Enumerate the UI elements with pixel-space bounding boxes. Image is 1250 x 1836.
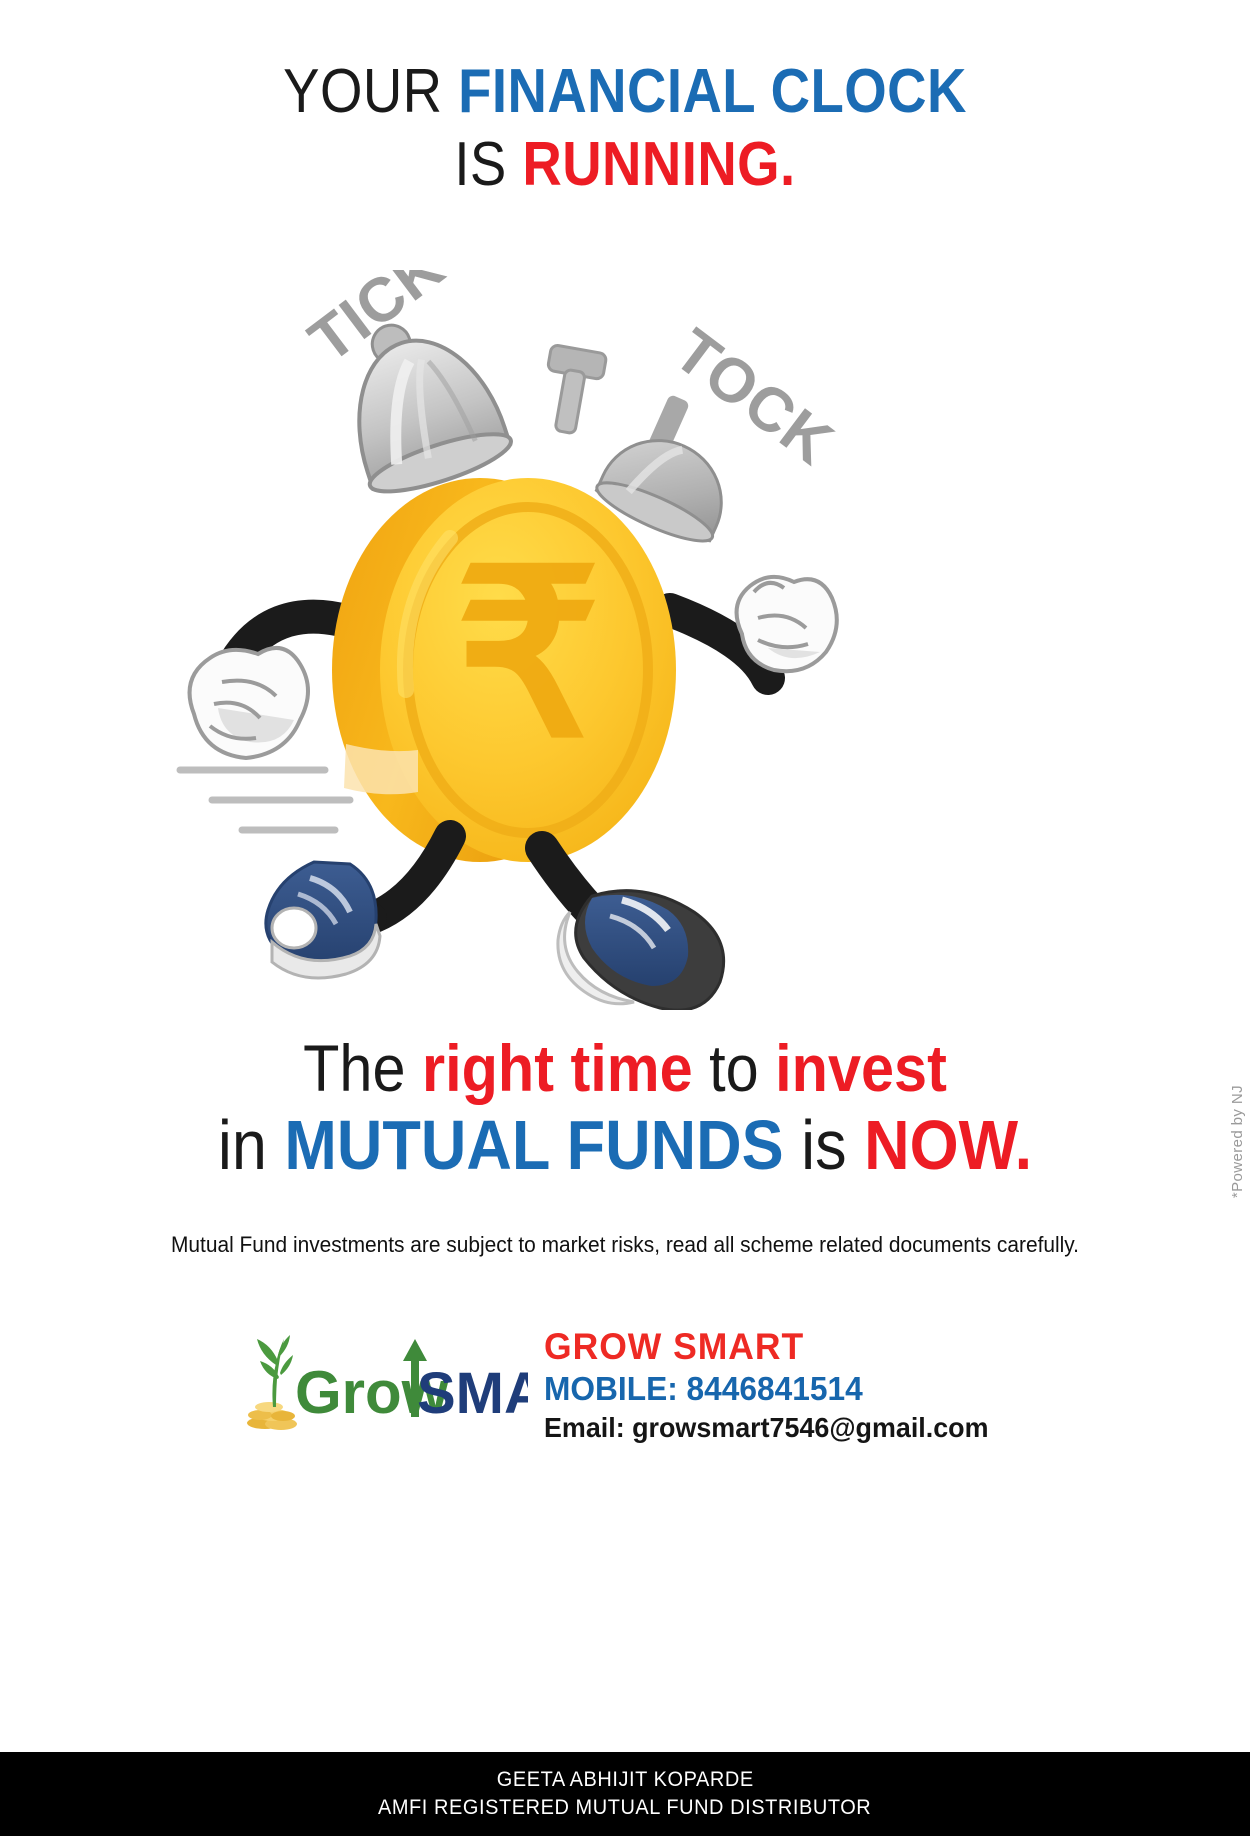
headline-top: YOUR FINANCIAL CLOCK IS RUNNING. [0,62,1250,196]
headline-word-your: YOUR [283,57,458,126]
footer-distributor-subtitle: AMFI REGISTERED MUTUAL FUND DISTRIBUTOR [378,1796,871,1820]
headline-bottom-line1: The right time to invest [63,1035,1188,1102]
right-hand-glove-icon [737,577,837,671]
rupee-symbol-icon: ₹ [455,526,601,783]
footer-distributor-name: GEETA ABHIJIT KOPARDE [496,1768,753,1792]
hb-word-right-time: right time [422,1031,693,1105]
powered-by-label: *Powered by NJ [1229,1085,1246,1198]
left-shoe-icon [266,862,380,978]
left-hand-glove-icon [190,648,308,758]
hb-word-now: NOW. [864,1106,1032,1184]
headline-bottom-line2: in MUTUAL FUNDS is NOW. [63,1110,1188,1181]
hb-word-in: in [218,1106,285,1184]
speed-lines-icon [180,770,350,830]
logo-smart-text: SMART [417,1361,528,1426]
brand-title: GROW SMART [544,1326,989,1367]
svg-text:₹: ₹ [455,526,601,783]
coin-pile-icon [247,1402,297,1430]
hb-word-invest: invest [775,1031,947,1105]
brand-row: Grow SMART GROW SMART MOBILE: 8446841514… [0,1322,1250,1445]
brand-mobile[interactable]: MOBILE: 8446841514 [544,1369,989,1409]
hb-word-the: The [303,1031,422,1105]
disclaimer-text: Mutual Fund investments are subject to m… [31,1232,1219,1258]
headline-top-line1: YOUR FINANCIAL CLOCK [75,62,1175,123]
headline-top-line2: IS RUNNING. [75,135,1175,196]
right-shoe-icon [558,891,724,1010]
hb-word-to: to [693,1031,776,1105]
headline-word-financial-clock: FINANCIAL CLOCK [458,57,967,126]
headline-word-is: IS [454,130,522,199]
headline-bottom: The right time to invest in MUTUAL FUNDS… [0,1035,1250,1182]
clock-winder-icon [537,344,607,436]
hb-word-is: is [784,1106,865,1184]
hb-word-mutual-funds: MUTUAL FUNDS [284,1106,783,1184]
brand-email[interactable]: Email: growsmart7546@gmail.com [544,1411,989,1445]
illustration-running-coin: TICK TOCK [150,270,850,1010]
headline-word-running: RUNNING. [522,130,795,199]
sprout-icon [257,1335,293,1407]
growsmart-logo: Grow SMART [243,1331,528,1436]
contact-block: GROW SMART MOBILE: 8446841514 Email: gro… [544,1322,1007,1445]
footer-bar: GEETA ABHIJIT KOPARDE AMFI REGISTERED MU… [0,1752,1250,1836]
